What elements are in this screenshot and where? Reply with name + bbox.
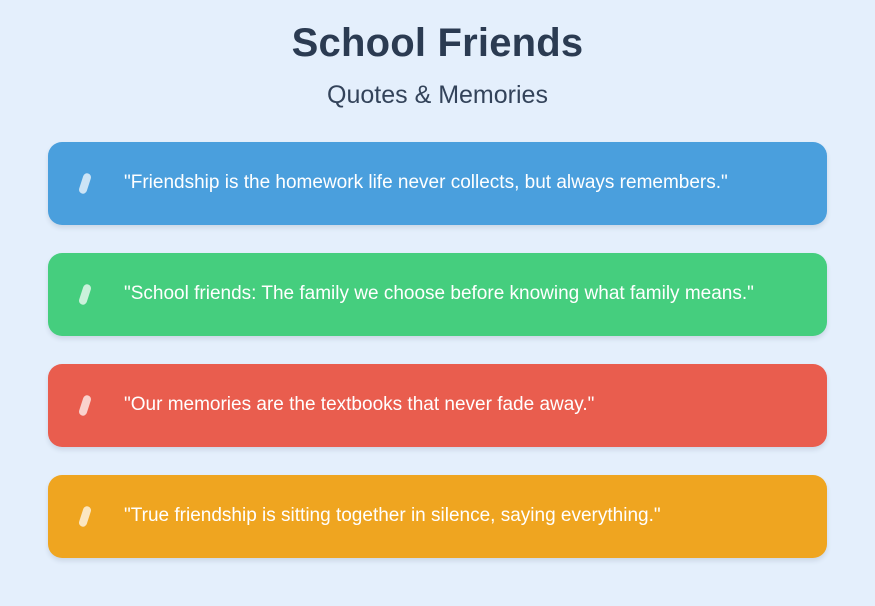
quote-text: "Friendship is the homework life never c… — [48, 171, 752, 196]
quote-card[interactable]: "Our memories are the textbooks that nev… — [48, 364, 827, 447]
quote-card[interactable]: "True friendship is sitting together in … — [48, 475, 827, 558]
quote-mark-icon — [74, 393, 96, 419]
page-root: School Friends Quotes & Memories "Friend… — [0, 0, 875, 606]
quote-card[interactable]: "School friends: The family we choose be… — [48, 253, 827, 336]
quote-mark-icon — [74, 171, 96, 197]
quote-card[interactable]: "Friendship is the homework life never c… — [48, 142, 827, 225]
quote-mark-icon — [74, 282, 96, 308]
quote-text: "School friends: The family we choose be… — [48, 282, 778, 307]
quote-mark-icon — [74, 504, 96, 530]
page-header: School Friends Quotes & Memories — [0, 0, 875, 110]
quote-text: "True friendship is sitting together in … — [48, 504, 685, 529]
quote-text: "Our memories are the textbooks that nev… — [48, 393, 618, 418]
page-subtitle: Quotes & Memories — [0, 68, 875, 110]
quote-list: "Friendship is the homework life never c… — [0, 142, 875, 558]
page-title: School Friends — [0, 18, 875, 68]
